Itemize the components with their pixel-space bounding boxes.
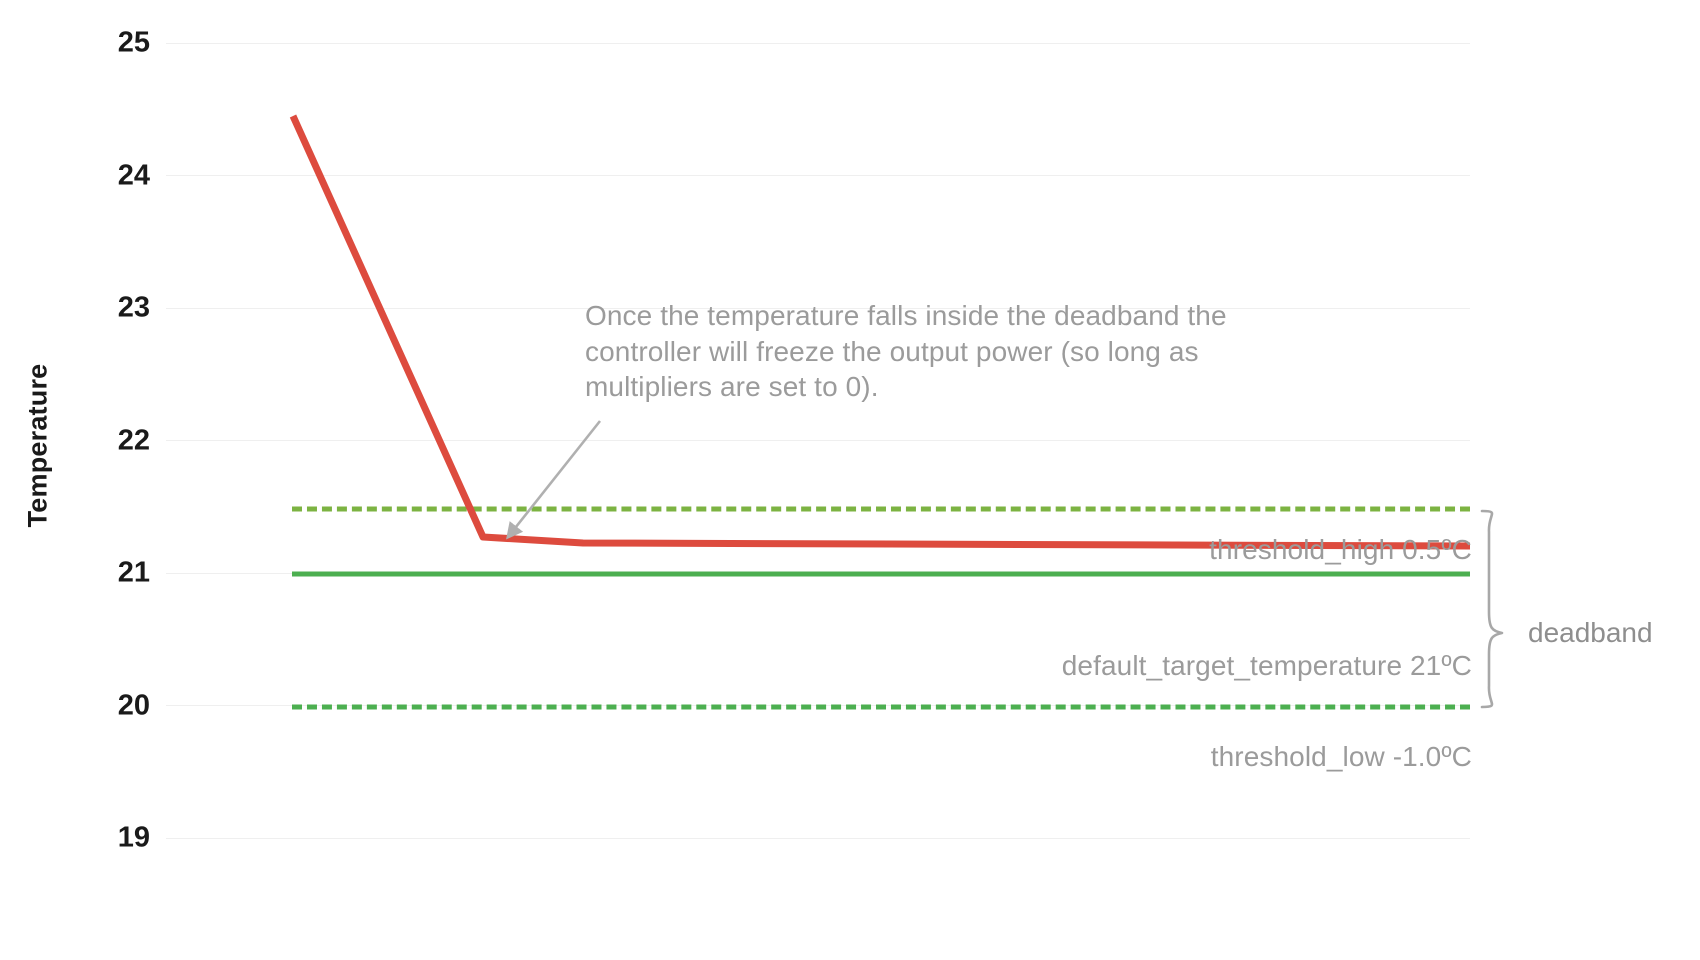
gridline-22 bbox=[166, 440, 1470, 441]
y-tick-label: 20 bbox=[90, 690, 150, 723]
gridline-25 bbox=[166, 43, 1470, 44]
default-target-temperature-label: default_target_temperature 21ºC bbox=[700, 650, 1472, 682]
chart-overlay bbox=[0, 0, 1700, 960]
annotation-line-3: multipliers are set to 0). bbox=[585, 369, 1305, 405]
y-tick-label: 24 bbox=[90, 160, 150, 193]
deadband-annotation: Once the temperature falls inside the de… bbox=[585, 298, 1305, 405]
threshold-high-line bbox=[292, 507, 1470, 512]
default-target-temperature-line bbox=[292, 572, 1470, 577]
y-axis-title: Temperature bbox=[23, 346, 54, 546]
gridline-24 bbox=[166, 175, 1470, 176]
annotation-line-2: controller will freeze the output power … bbox=[585, 334, 1305, 370]
deadband-label: deadband bbox=[1528, 617, 1653, 649]
gridline-19 bbox=[166, 838, 1470, 839]
y-tick-label: 21 bbox=[90, 557, 150, 590]
annotation-line-1: Once the temperature falls inside the de… bbox=[585, 298, 1305, 334]
threshold-low-line bbox=[292, 705, 1470, 710]
deadband-brace bbox=[1482, 511, 1502, 707]
threshold-low-label: threshold_low -1.0ºC bbox=[700, 741, 1472, 773]
y-tick-label: 19 bbox=[90, 822, 150, 855]
threshold-high-label: threshold_high 0.5ºC bbox=[700, 534, 1472, 566]
annotation-leader-line bbox=[508, 421, 600, 537]
y-tick-label: 23 bbox=[90, 292, 150, 325]
y-tick-label: 25 bbox=[90, 27, 150, 60]
y-tick-label: 22 bbox=[90, 425, 150, 458]
chart-canvas: Temperature 25 24 23 22 21 20 19 Once th… bbox=[0, 0, 1700, 960]
y-axis-ticks: 25 24 23 22 21 20 19 bbox=[80, 0, 150, 960]
